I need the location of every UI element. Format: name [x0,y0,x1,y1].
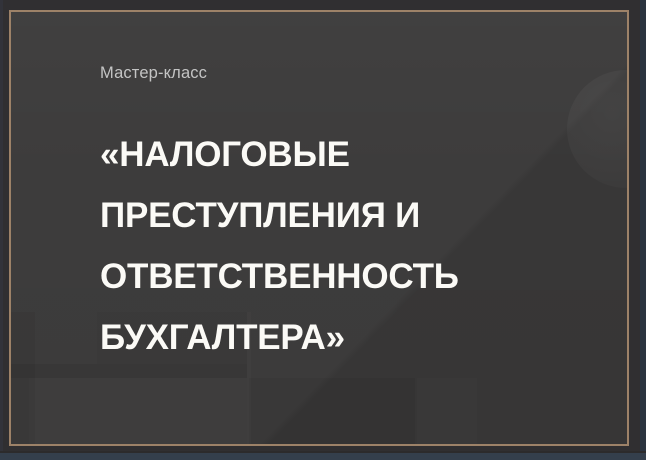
bottom-edge-hairline [0,453,646,460]
title-line-1: «НАЛОГОВЫЕ [100,124,600,185]
page-title: «НАЛОГОВЫЕ ПРЕСТУПЛЕНИЯ И ОТВЕТСТВЕННОСТ… [100,124,600,368]
promo-banner: Мастер-класс «НАЛОГОВЫЕ ПРЕСТУПЛЕНИЯ И О… [0,0,646,460]
title-line-2: ПРЕСТУПЛЕНИЯ И [100,185,600,246]
right-edge-hairline [640,0,646,460]
title-line-3: ОТВЕТСТВЕННОСТЬ [100,246,600,307]
title-line-4: БУХГАЛТЕРА» [100,307,600,368]
left-edge-hairline [0,0,3,460]
banner-content: Мастер-класс «НАЛОГОВЫЕ ПРЕСТУПЛЕНИЯ И О… [100,62,600,368]
eyebrow-label: Мастер-класс [100,62,600,84]
